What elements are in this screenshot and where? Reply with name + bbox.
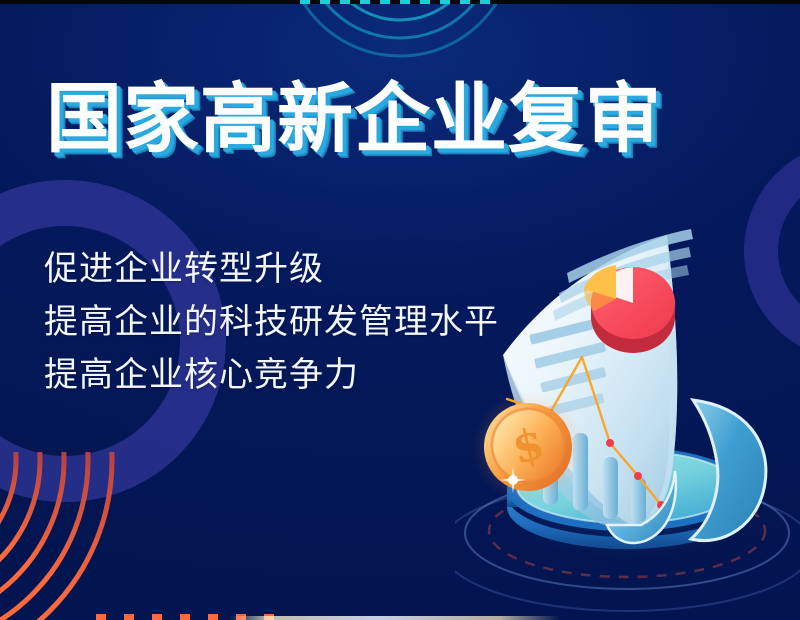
report-illustration: $ <box>455 195 800 620</box>
benefit-list: 促进企业转型升级 提高企业的科技研发管理水平 提高企业核心竞争力 <box>44 243 499 402</box>
page-title: 国家高新企业复审 <box>46 82 662 158</box>
arc-decoration-bottom-left <box>0 452 208 620</box>
bottom-edge-band <box>230 616 560 620</box>
benefit-item-3: 提高企业核心竞争力 <box>44 349 499 402</box>
top-trim-dashes <box>300 0 500 4</box>
poster-canvas: 国家高新企业复审 促进企业转型升级 提高企业的科技研发管理水平 提高企业核心竞争… <box>0 0 800 620</box>
ripple-arcs-decoration <box>250 0 550 62</box>
benefit-item-2: 提高企业的科技研发管理水平 <box>44 296 499 349</box>
gold-coin: $ <box>472 391 584 503</box>
benefit-item-1: 促进企业转型升级 <box>44 243 499 296</box>
